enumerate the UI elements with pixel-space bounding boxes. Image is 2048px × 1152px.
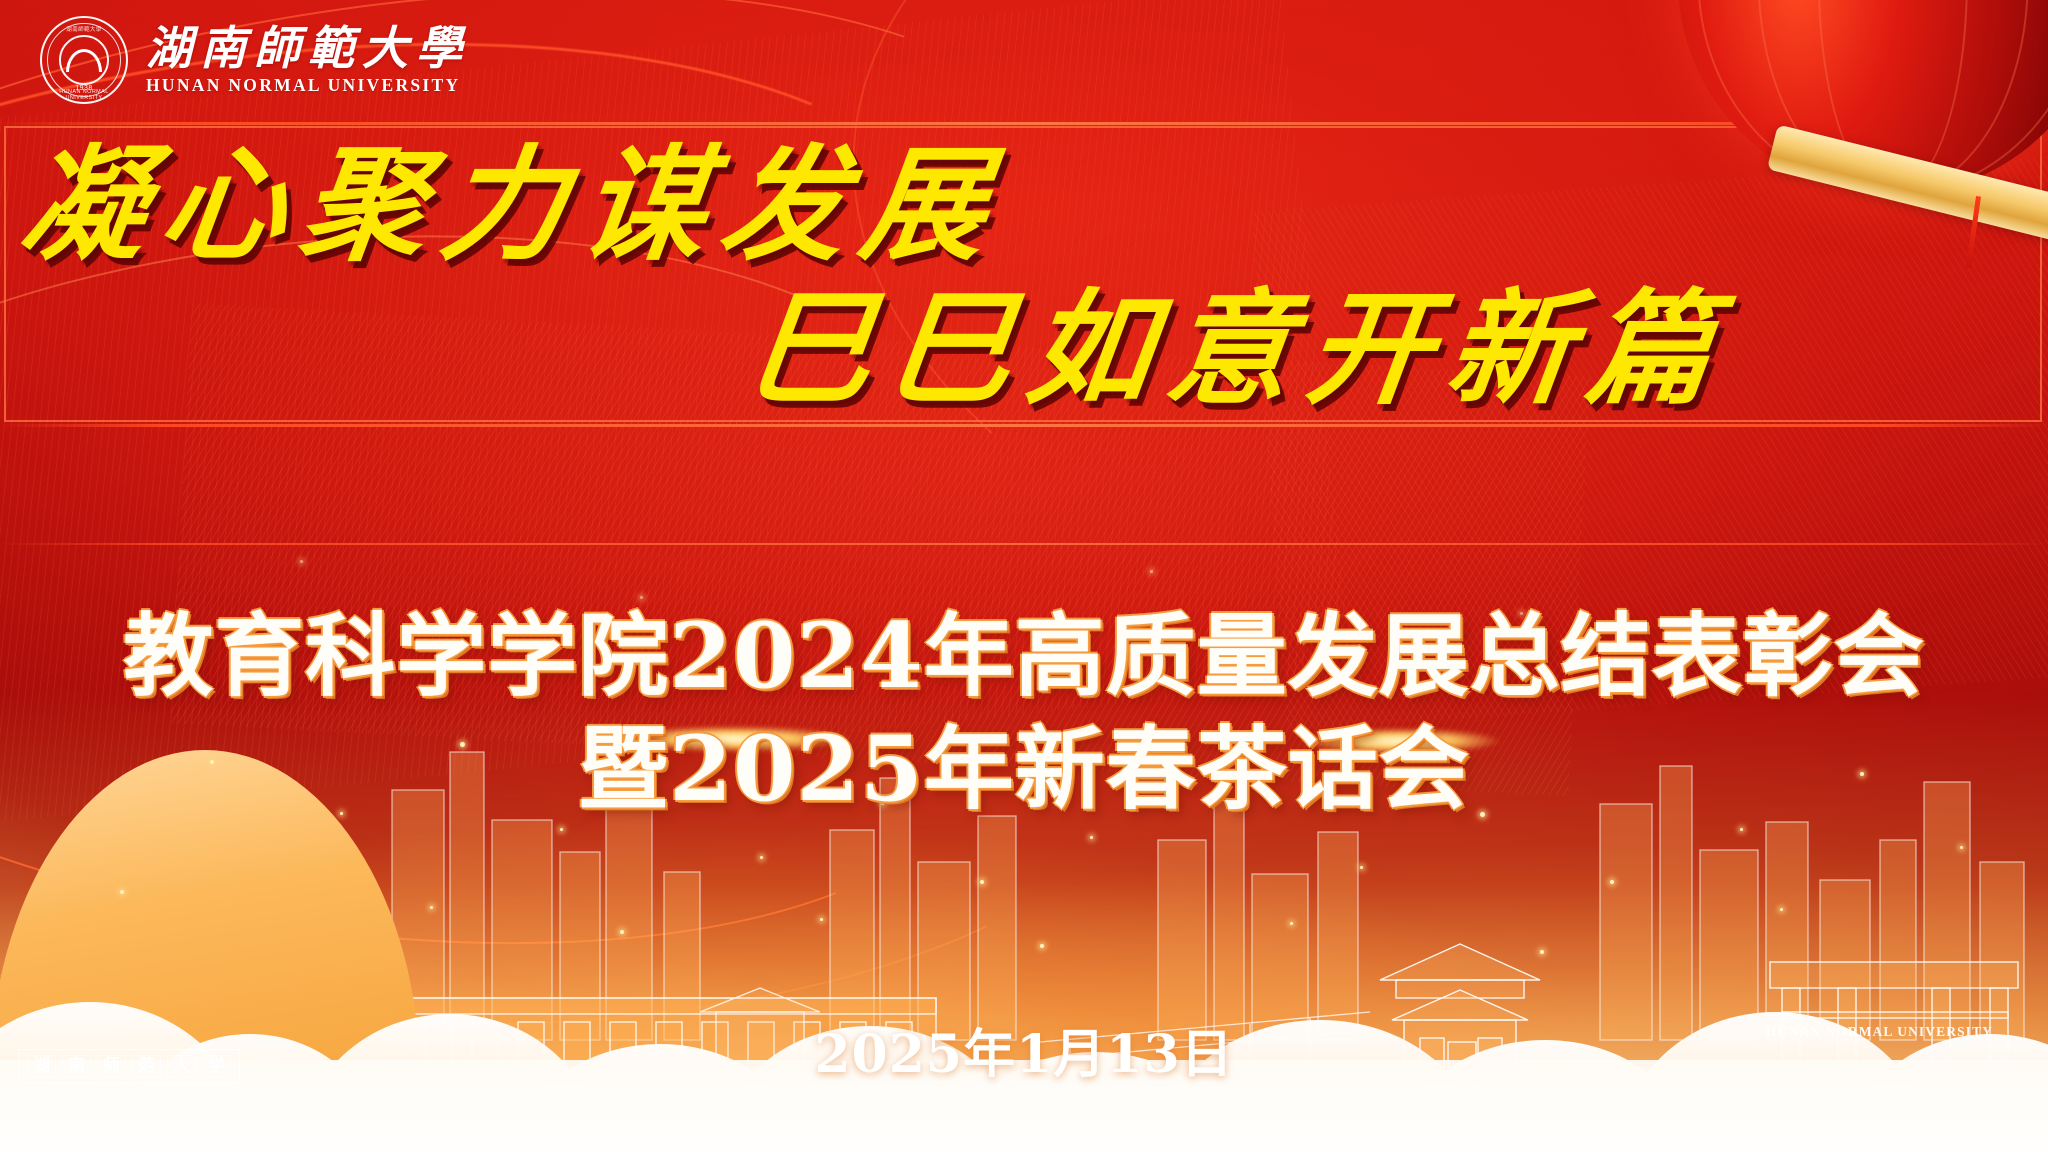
logo-name-chinese: 湖南師範大學 bbox=[146, 24, 470, 72]
event-date: 2025年1月13日 bbox=[0, 1012, 2048, 1087]
event-title-line-2: 暨2025年新春茶话会 bbox=[0, 713, 2048, 826]
logo-name-english: HUNAN NORMAL UNIVERSITY bbox=[146, 75, 470, 96]
event-title-line-1: 教育科学学院2024年高质量发展总结表彰会 bbox=[0, 600, 2048, 713]
slogan-line-2: 巳巳如意开新篇 bbox=[740, 288, 1735, 412]
logo-wordmark: 湖南師範大學 HUNAN NORMAL UNIVERSITY bbox=[146, 24, 470, 95]
slogan-line-1: 凝心聚力谋发展 bbox=[14, 144, 1009, 268]
seal-year-text: 1938 bbox=[75, 85, 93, 92]
university-seal-icon: 湖南師範大學 1938 HUNAN NORMAL UNIVERSITY bbox=[40, 16, 128, 104]
seal-inner-emblem bbox=[59, 35, 109, 85]
divider-line-middle bbox=[0, 424, 2048, 427]
seal-arc-bottom-text: HUNAN NORMAL UNIVERSITY bbox=[42, 89, 126, 101]
seal-arc-top-text: 湖南師範大學 bbox=[42, 25, 126, 33]
seal-bird-glyph bbox=[66, 49, 102, 72]
event-title-block: 教育科学学院2024年高质量发展总结表彰会 暨2025年新春茶话会 bbox=[0, 600, 2048, 827]
banner-stage: 湖南師範大學 1938 HUNAN NORMAL UNIVERSITY 湖南師範… bbox=[0, 0, 2048, 1152]
divider-line-lower bbox=[0, 543, 2048, 545]
cloud-layer bbox=[0, 822, 2048, 1152]
university-logo: 湖南師範大學 1938 HUNAN NORMAL UNIVERSITY 湖南師範… bbox=[40, 16, 470, 104]
